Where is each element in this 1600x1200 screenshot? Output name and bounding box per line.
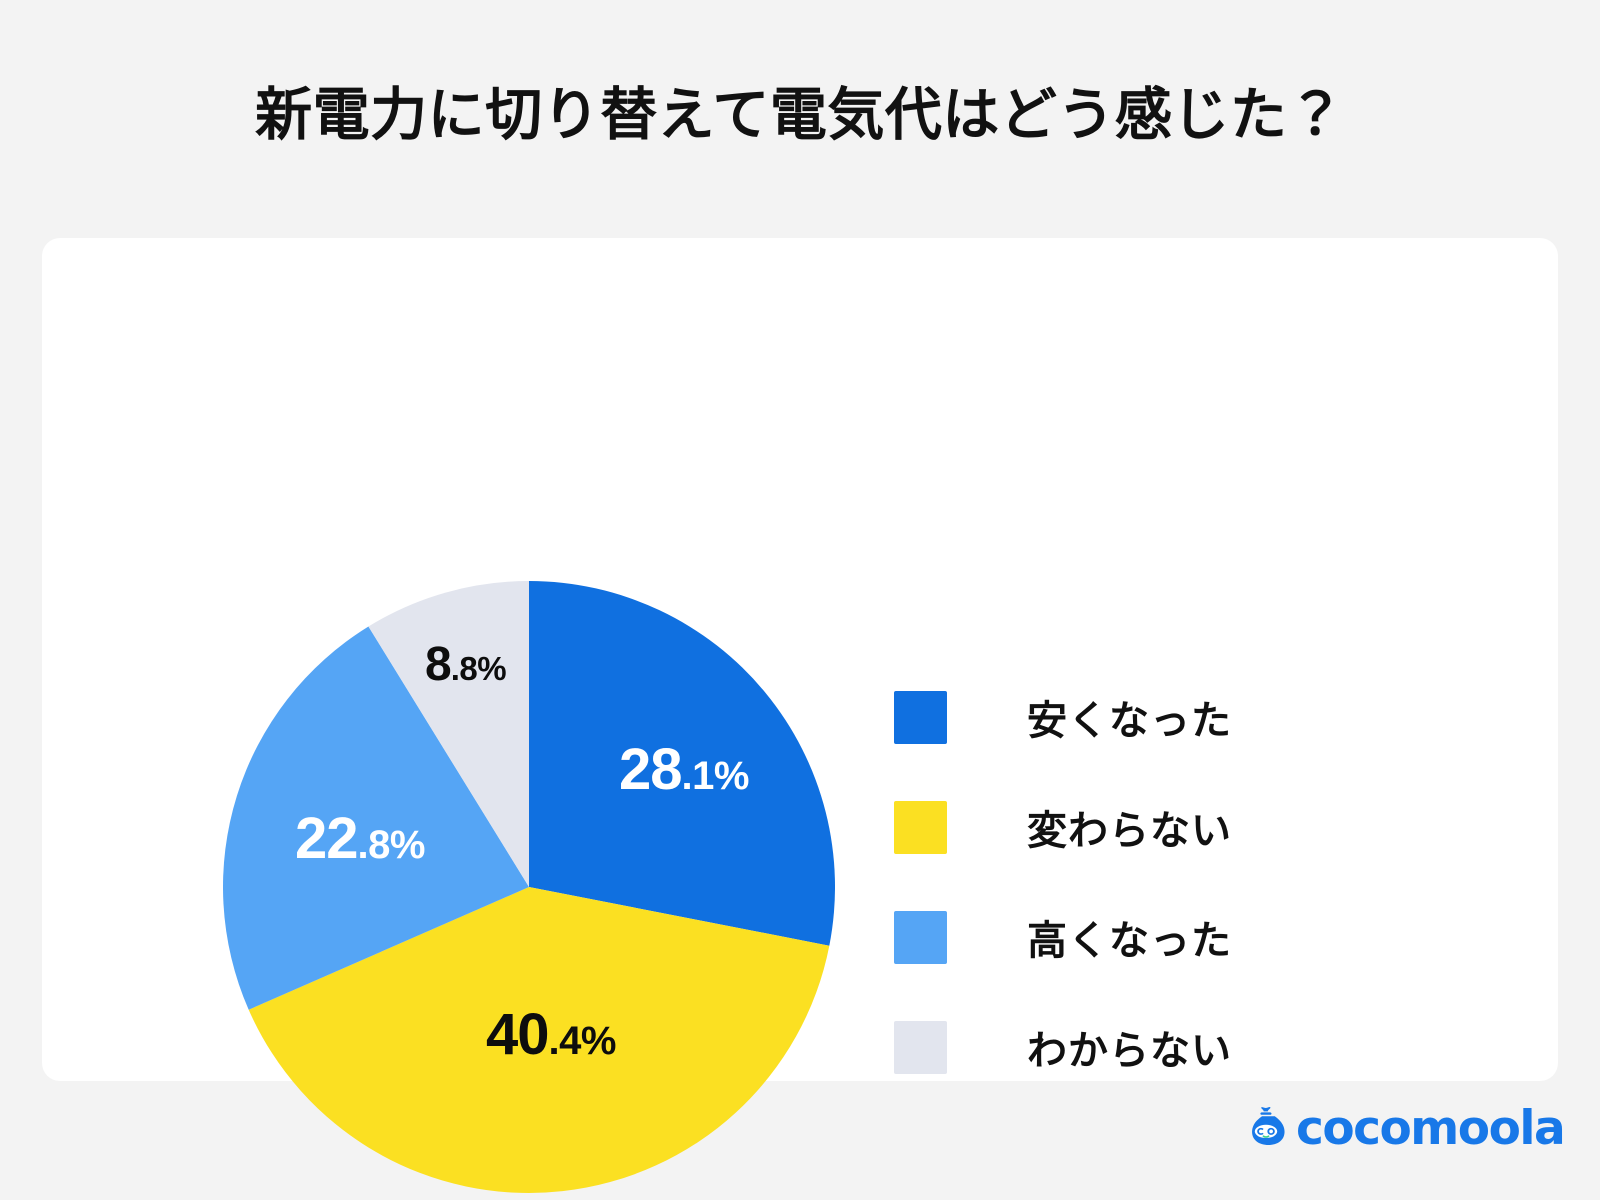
chart-legend: 安くなった 変わらない 高くなった わからない — [894, 690, 1314, 1074]
pie-value-frac: .8% — [451, 652, 506, 685]
legend-item-takaku-natta[interactable]: 高くなった — [894, 910, 1314, 964]
legend-item-kawaranai[interactable]: 変わらない — [894, 800, 1314, 854]
legend-item-label: 安くなった — [1027, 688, 1232, 746]
pie-value-label-wakaranai: 8.8% — [425, 641, 506, 689]
pie-value-int: 28 — [619, 741, 682, 799]
brand-wordmark: cocomoola — [1296, 1105, 1564, 1152]
pie-chart-svg — [222, 580, 836, 1194]
legend-item-label: 変わらない — [1027, 798, 1232, 856]
legend-item-label: わからない — [1027, 1018, 1232, 1076]
pie-value-label-kawaranai: 40.4% — [486, 1006, 616, 1064]
money-bag-character-icon — [1243, 1105, 1289, 1151]
brand-logo[interactable]: cocomoola — [1243, 1100, 1564, 1156]
pie-value-int: 22 — [295, 810, 358, 868]
legend-color-swatch-icon — [894, 801, 947, 854]
pie-value-int: 8 — [425, 641, 451, 689]
legend-color-swatch-icon — [894, 1021, 947, 1074]
pie-value-label-takaku-natta: 22.8% — [295, 810, 425, 868]
chart-card: 28.1% 40.4% 22.8% 8.8% 安くなった 変わらない 高くなった… — [42, 238, 1558, 1081]
legend-color-swatch-icon — [894, 691, 947, 744]
pie-value-label-yasuku-natta: 28.1% — [619, 741, 749, 799]
pie-slices — [223, 581, 835, 1193]
pie-value-int: 40 — [486, 1006, 549, 1064]
legend-color-swatch-icon — [894, 911, 947, 964]
page-title: 新電力に切り替えて電気代はどう感じた？ — [0, 78, 1600, 152]
pie-value-frac: .8% — [358, 825, 425, 865]
pie-value-frac: .4% — [549, 1021, 616, 1061]
legend-item-yasuku-natta[interactable]: 安くなった — [894, 690, 1314, 744]
legend-item-wakaranai[interactable]: わからない — [894, 1020, 1314, 1074]
pie-value-frac: .1% — [682, 756, 749, 796]
legend-item-label: 高くなった — [1027, 908, 1232, 966]
pie-chart — [222, 580, 836, 1194]
